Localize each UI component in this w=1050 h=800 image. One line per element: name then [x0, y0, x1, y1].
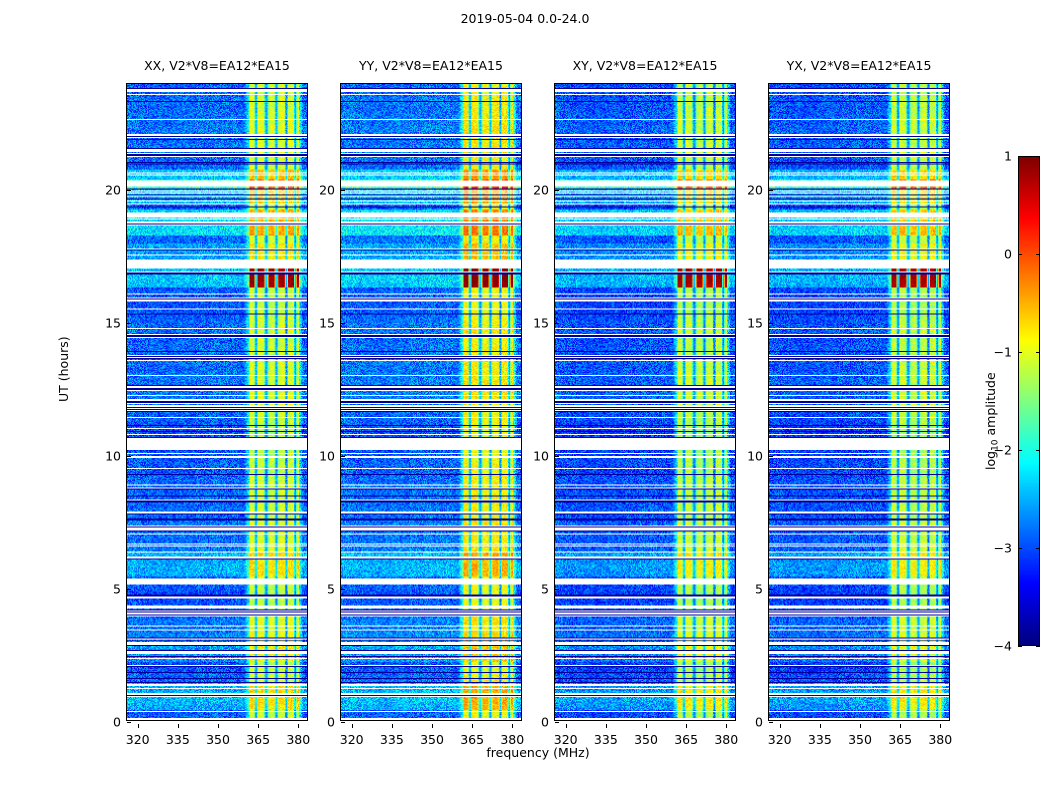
x-tick-label: 350 — [420, 732, 444, 747]
x-tick-mark — [900, 724, 901, 728]
colorbar-tick-mark — [1018, 254, 1022, 255]
panel-yy-title: YY, V2*V8=EA12*EA15 — [359, 58, 503, 73]
colorbar-tick-mark — [1036, 450, 1040, 451]
x-tick-mark — [646, 724, 647, 728]
y-tick-label: 5 — [327, 582, 335, 597]
y-tick-mark — [769, 589, 773, 590]
x-tick-mark — [860, 724, 861, 728]
colorbar-tick-label: −4 — [994, 639, 1012, 654]
x-tick-label: 380 — [928, 732, 952, 747]
y-tick-mark — [555, 323, 559, 324]
y-tick-label: 5 — [113, 582, 121, 597]
y-tick-label: 5 — [541, 582, 549, 597]
colorbar-tick-mark — [1036, 352, 1040, 353]
y-tick-label: 15 — [105, 316, 121, 331]
colorbar-tick-mark — [1018, 352, 1022, 353]
colorbar-ticks: −4−3−2−101 — [1018, 156, 1040, 646]
colorbar-label-text: log10 amplitude — [983, 372, 998, 470]
y-tick-label: 20 — [533, 183, 549, 198]
x-tick-label: 335 — [808, 732, 832, 747]
x-tick-mark — [258, 724, 259, 728]
y-tick-label: 15 — [747, 316, 763, 331]
y-tick-mark — [769, 456, 773, 457]
x-tick-label: 320 — [554, 732, 578, 747]
y-tick-label: 10 — [105, 449, 121, 464]
y-tick-label: 15 — [319, 316, 335, 331]
x-tick-mark — [726, 724, 727, 728]
x-tick-label: 350 — [634, 732, 658, 747]
y-tick-label: 0 — [113, 715, 121, 730]
x-tick-group: 320335350365380 — [555, 724, 735, 754]
y-tick-label: 5 — [755, 582, 763, 597]
y-tick-label: 10 — [319, 449, 335, 464]
panel-xy-title: XY, V2*V8=EA12*EA15 — [573, 58, 718, 73]
x-tick-mark — [138, 724, 139, 728]
y-tick-mark — [341, 323, 345, 324]
x-tick-label: 365 — [888, 732, 912, 747]
panel-xx-image — [127, 84, 307, 720]
y-tick-mark — [127, 589, 131, 590]
x-tick-mark — [392, 724, 393, 728]
x-tick-mark — [780, 724, 781, 728]
panel-xy[interactable]: XY, V2*V8=EA12*EA15 32033535036538005101… — [554, 83, 736, 721]
y-tick-mark — [341, 190, 345, 191]
y-tick-mark — [769, 722, 773, 723]
x-tick-mark — [940, 724, 941, 728]
waterfall-figure: 2019-05-04 0.0-24.0 UT (hours) frequency… — [0, 0, 1050, 800]
x-tick-label: 320 — [340, 732, 364, 747]
y-tick-label: 20 — [319, 183, 335, 198]
panel-xx[interactable]: XX, V2*V8=EA12*EA15 32033535036538005101… — [126, 83, 308, 721]
y-tick-label: 0 — [541, 715, 549, 730]
y-tick-label: 0 — [755, 715, 763, 730]
x-tick-group: 320335350365380 — [769, 724, 949, 754]
y-tick-mark — [341, 722, 345, 723]
panel-yx-title: YX, V2*V8=EA12*EA15 — [787, 58, 932, 73]
colorbar-tick-mark — [1036, 156, 1040, 157]
colorbar-tick-label: −3 — [994, 541, 1012, 556]
x-tick-label: 365 — [460, 732, 484, 747]
colorbar-label-subscript: 10 — [990, 439, 1000, 450]
y-axis-label: UT (hours) — [56, 336, 71, 402]
x-tick-label: 335 — [166, 732, 190, 747]
colorbar-tick-label: 1 — [1004, 149, 1012, 164]
y-tick-mark — [127, 722, 131, 723]
x-tick-mark — [472, 724, 473, 728]
x-tick-label: 365 — [246, 732, 270, 747]
colorbar-label: log10 amplitude — [983, 372, 1000, 470]
x-tick-label: 365 — [674, 732, 698, 747]
y-tick-mark — [555, 722, 559, 723]
figure-suptitle: 2019-05-04 0.0-24.0 — [0, 11, 1050, 26]
panel-yy-image — [341, 84, 521, 720]
y-tick-mark — [127, 456, 131, 457]
x-tick-label: 320 — [126, 732, 150, 747]
panel-yy[interactable]: YY, V2*V8=EA12*EA15 32033535036538005101… — [340, 83, 522, 721]
panel-yx-image — [769, 84, 949, 720]
y-tick-label: 0 — [327, 715, 335, 730]
panel-yx[interactable]: YX, V2*V8=EA12*EA15 32033535036538005101… — [768, 83, 950, 721]
y-tick-mark — [127, 323, 131, 324]
x-tick-mark — [686, 724, 687, 728]
x-tick-group: 320335350365380 — [341, 724, 521, 754]
y-tick-label: 20 — [105, 183, 121, 198]
y-tick-mark — [555, 456, 559, 457]
x-tick-mark — [178, 724, 179, 728]
colorbar-tick-mark — [1018, 548, 1022, 549]
x-tick-mark — [512, 724, 513, 728]
x-tick-mark — [352, 724, 353, 728]
x-tick-label: 335 — [380, 732, 404, 747]
colorbar-tick-mark — [1018, 450, 1022, 451]
y-tick-label: 20 — [747, 183, 763, 198]
y-tick-mark — [555, 589, 559, 590]
y-tick-label: 10 — [747, 449, 763, 464]
x-tick-label: 380 — [500, 732, 524, 747]
x-tick-mark — [566, 724, 567, 728]
x-tick-mark — [218, 724, 219, 728]
colorbar-tick-mark — [1018, 156, 1022, 157]
x-tick-label: 335 — [594, 732, 618, 747]
x-tick-mark — [298, 724, 299, 728]
x-tick-mark — [606, 724, 607, 728]
y-tick-mark — [555, 190, 559, 191]
y-tick-mark — [341, 589, 345, 590]
x-tick-label: 320 — [768, 732, 792, 747]
colorbar-tick-mark — [1036, 254, 1040, 255]
y-tick-mark — [769, 323, 773, 324]
x-tick-label: 350 — [848, 732, 872, 747]
y-tick-label: 10 — [533, 449, 549, 464]
y-tick-mark — [341, 456, 345, 457]
y-tick-mark — [769, 190, 773, 191]
x-tick-label: 380 — [286, 732, 310, 747]
colorbar-tick-mark — [1018, 646, 1022, 647]
panel-xy-image — [555, 84, 735, 720]
x-tick-mark — [820, 724, 821, 728]
colorbar-tick-mark — [1036, 548, 1040, 549]
colorbar-tick-label: 0 — [1004, 247, 1012, 262]
x-tick-label: 350 — [206, 732, 230, 747]
colorbar-tick-label: −1 — [994, 345, 1012, 360]
x-tick-label: 380 — [714, 732, 738, 747]
x-tick-group: 320335350365380 — [127, 724, 307, 754]
y-tick-label: 15 — [533, 316, 549, 331]
y-tick-mark — [127, 190, 131, 191]
x-tick-mark — [432, 724, 433, 728]
panel-xx-title: XX, V2*V8=EA12*EA15 — [144, 58, 290, 73]
colorbar-tick-mark — [1036, 646, 1040, 647]
